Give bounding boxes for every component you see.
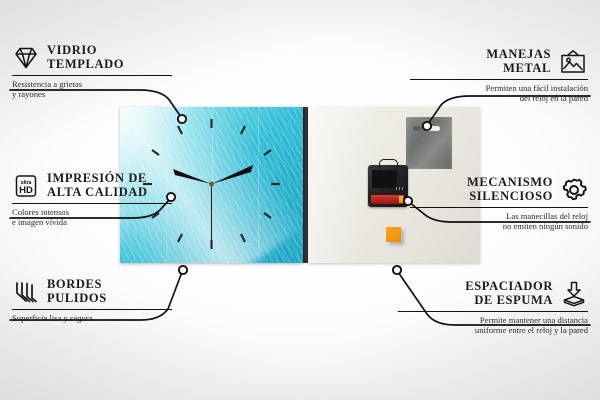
gear-icon: [560, 177, 588, 203]
hanger-keyhole-slot: [413, 126, 440, 131]
divider: [12, 75, 172, 76]
feature-heading: ESPACIADOR DE ESPUMA: [398, 280, 588, 307]
feature-description: Colores intensos e imagen vívida: [12, 207, 172, 228]
foam-spacer-icon: [560, 281, 588, 307]
wall-hanger-icon: [558, 49, 588, 75]
polished-edges-icon: [12, 279, 40, 305]
divider: [12, 203, 172, 204]
divider: [12, 309, 172, 310]
feature-heading: MECANISMO SILENCIOSO: [410, 176, 588, 203]
mechanism-label: [396, 187, 405, 190]
svg-text:HD: HD: [19, 185, 33, 196]
divider: [410, 207, 588, 208]
feature-title: MANEJAS METAL: [486, 48, 551, 75]
ultra-hd-icon: ultra HD: [12, 173, 40, 199]
feature-description: Resistencia a grietas y rayones: [12, 79, 172, 100]
battery: [371, 195, 404, 204]
feature-title: BORDES PULIDOS: [47, 278, 107, 305]
feature-description: Permite mantener una distancia uniforme …: [398, 315, 588, 336]
mechanism-hook: [379, 159, 398, 169]
mechanism-body: [372, 170, 397, 188]
diamond-icon: [12, 45, 40, 71]
divider: [410, 79, 588, 80]
feature-heading: VIDRIO TEMPLADO: [12, 44, 172, 71]
feature-impresion-alta-calidad: ultra HD IMPRESIÓN DE ALTA CALIDAD Color…: [12, 172, 172, 228]
feature-title: VIDRIO TEMPLADO: [47, 44, 124, 71]
feature-heading: ultra HD IMPRESIÓN DE ALTA CALIDAD: [12, 172, 172, 199]
metal-hanger-plate: [406, 117, 452, 169]
foam-spacer: [386, 227, 401, 242]
divider: [398, 311, 588, 312]
feature-heading: BORDES PULIDOS: [12, 278, 172, 305]
feature-espaciador-de-espuma: ESPACIADOR DE ESPUMA Permite mantener un…: [398, 280, 588, 336]
feature-title: ESPACIADOR DE ESPUMA: [465, 280, 553, 307]
feature-vidrio-templado: VIDRIO TEMPLADO Resistencia a grietas y …: [12, 44, 172, 100]
feature-mecanismo-silencioso: MECANISMO SILENCIOSO Las manecillas del …: [410, 176, 588, 232]
feature-heading: MANEJAS METAL: [410, 48, 588, 75]
infographic-canvas: VIDRIO TEMPLADO Resistencia a grietas y …: [0, 0, 600, 400]
feature-description: Superficie lisa y segura: [12, 313, 172, 323]
feature-title: IMPRESIÓN DE ALTA CALIDAD: [47, 172, 148, 199]
feature-manejas-metal: MANEJAS METAL Permiten una fácil instala…: [410, 48, 588, 104]
feature-title: MECANISMO SILENCIOSO: [467, 176, 553, 203]
feature-description: Permiten una fácil instalación del reloj…: [410, 83, 588, 104]
feature-bordes-pulidos: BORDES PULIDOS Superficie lisa y segura: [12, 278, 172, 323]
feature-description: Las manecillas del reloj no emiten ningú…: [410, 211, 588, 232]
clock-mechanism: [368, 165, 408, 207]
